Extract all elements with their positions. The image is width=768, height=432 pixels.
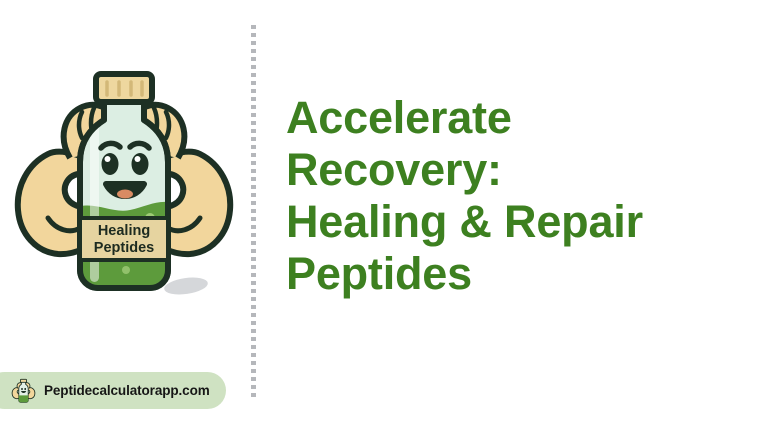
peptide-bottle-mascot-logo-icon (10, 377, 37, 404)
mascot-bottle-cap (96, 74, 152, 102)
bottle-label-line-2: Peptides (94, 240, 154, 256)
headline-line-2: Recovery: (286, 144, 738, 196)
page-title: Accelerate Recovery: Healing & Repair Pe… (286, 92, 738, 300)
vertical-dotted-divider (251, 25, 256, 401)
footer-brand-label: Peptidecalculatorapp.com (44, 383, 210, 398)
slide-canvas: Healing Peptides Accelerate Recovery: He… (0, 0, 768, 432)
headline-line-3: Healing & Repair (286, 196, 738, 248)
footer-brand-badge[interactable]: Peptidecalculatorapp.com (0, 372, 226, 409)
mascot-bottle-label: Healing Peptides (80, 218, 168, 260)
headline-line-1: Accelerate (286, 92, 738, 144)
headline-line-4: Peptides (286, 248, 738, 300)
mascot-eye-right (132, 153, 149, 175)
mascot-eye-left (102, 153, 119, 175)
bottle-label-line-1: Healing (98, 223, 150, 239)
mascot-shadow (163, 275, 209, 297)
illustration-panel: Healing Peptides (0, 0, 246, 432)
flexing-peptide-bottle-mascot-icon: Healing Peptides (8, 58, 240, 310)
